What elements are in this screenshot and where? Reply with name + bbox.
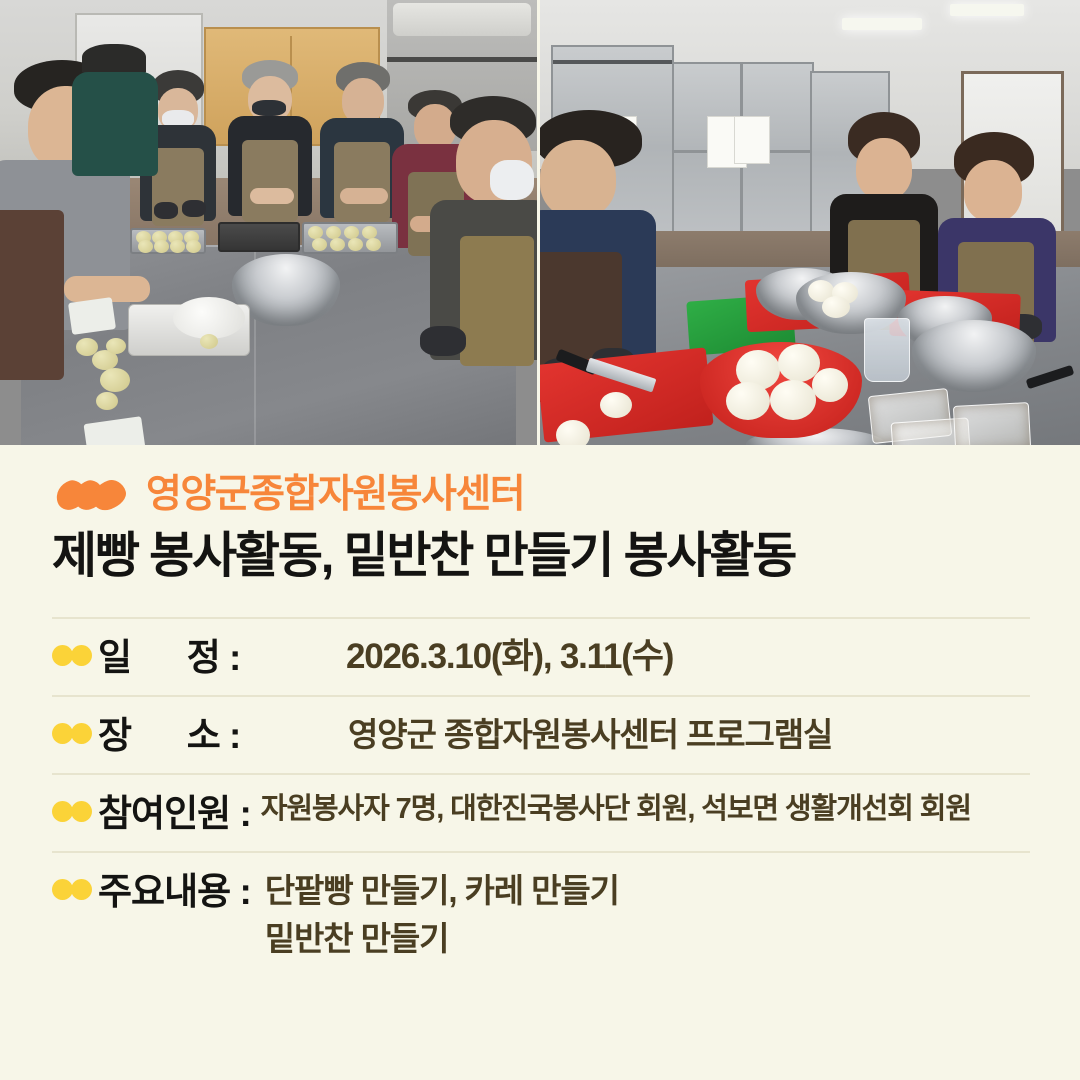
detail-value: 단팥빵 만들기, 카레 만들기 밑반찬 만들기 xyxy=(251,867,619,963)
baking-tray xyxy=(218,222,300,252)
three-orange-petals-logo xyxy=(56,477,130,513)
detail-value-line-1: 단팥빵 만들기, 카레 만들기 xyxy=(265,867,619,915)
detail-label: 일 정 : xyxy=(98,633,334,683)
detail-value: 2026.3.10(화), 3.11(수) xyxy=(334,633,673,680)
volunteer xyxy=(72,44,162,194)
kitchen-scale xyxy=(128,304,250,356)
double-dot-bullet xyxy=(52,879,98,909)
ceiling-light xyxy=(842,18,922,30)
detail-value: 자원봉사자 7명, 대한진국봉사단 회원, 석보면 생활개선회 회원 xyxy=(251,789,971,830)
info-panel: 영양군종합자원봉사센터 제빵 봉사활동, 밑반찬 만들기 봉사활동 일 정 : … xyxy=(0,445,1080,1080)
detail-row-participants: 참여인원 : 자원봉사자 7명, 대한진국봉사단 회원, 석보면 생활개선회 회… xyxy=(52,773,1030,851)
measuring-jug xyxy=(864,318,910,382)
notice-paper xyxy=(734,116,770,164)
double-dot-bullet xyxy=(52,645,98,675)
detail-row-location: 장 소 : 영양군 종합자원봉사센터 프로그램실 xyxy=(52,695,1030,773)
page-title: 제빵 봉사활동, 밑반찬 만들기 봉사활동 xyxy=(52,529,795,584)
double-dot-bullet xyxy=(52,723,98,753)
detail-list: 일 정 : 2026.3.10(화), 3.11(수) 장 소 : 영양군 종합… xyxy=(52,617,1030,975)
detail-label: 주요내용 : xyxy=(98,867,251,917)
detail-label: 참여인원 : xyxy=(98,789,251,839)
detail-label: 장 소 : xyxy=(98,711,334,761)
detail-row-date: 일 정 : 2026.3.10(화), 3.11(수) xyxy=(52,617,1030,695)
mushroom-pack xyxy=(953,402,1031,445)
poster-card: 영양군종합자원봉사센터 제빵 봉사활동, 밑반찬 만들기 봉사활동 일 정 : … xyxy=(0,0,1080,1080)
organization-header: 영양군종합자원봉사센터 xyxy=(56,475,524,514)
dough-card xyxy=(68,297,116,335)
organization-name: 영양군종합자원봉사센터 xyxy=(146,475,524,514)
photo-band xyxy=(0,0,1080,445)
double-dot-bullet xyxy=(52,801,98,831)
volunteer-foreground xyxy=(430,96,537,376)
detail-value-line-2: 밑반찬 만들기 xyxy=(265,915,619,963)
detail-row-program: 주요내용 : 단팥빵 만들기, 카레 만들기 밑반찬 만들기 xyxy=(52,851,1030,975)
ceiling-light xyxy=(950,4,1024,16)
kitchen-volunteers-photo xyxy=(540,0,1080,445)
bakery-volunteers-photo xyxy=(0,0,537,445)
detail-value: 영양군 종합자원봉사센터 프로그램실 xyxy=(334,711,832,759)
